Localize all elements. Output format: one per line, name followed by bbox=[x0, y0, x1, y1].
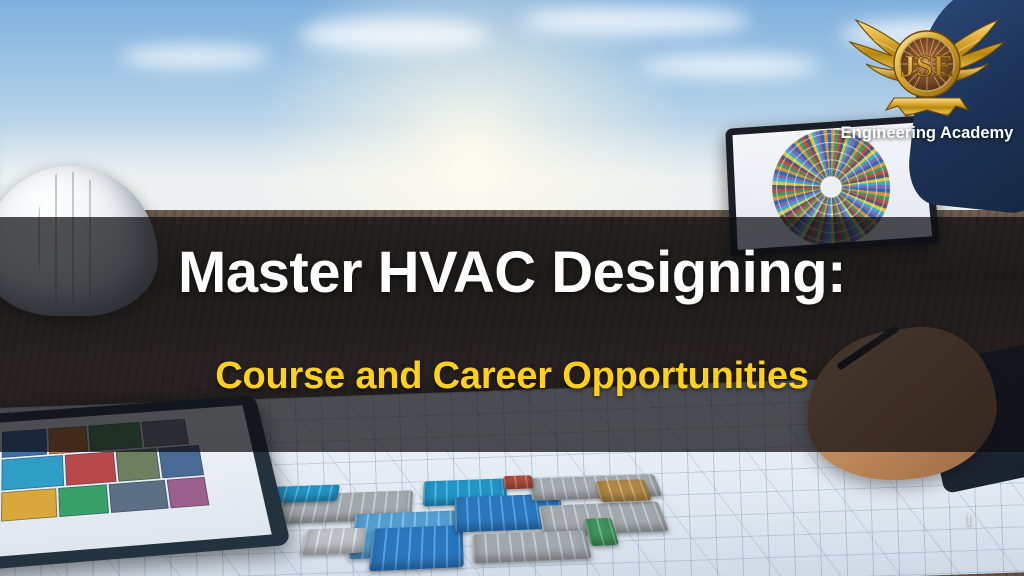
cloud-shape bbox=[640, 54, 820, 78]
duct-segment bbox=[595, 479, 651, 502]
presentation-slide: Master HVAC Designing: Course and Career… bbox=[0, 0, 1024, 576]
duct-segment bbox=[368, 525, 463, 571]
winged-shield-badge-icon: JSE bbox=[838, 6, 1016, 122]
brand-logo[interactable]: JSE Engineering Academy bbox=[838, 6, 1016, 152]
cloud-shape bbox=[520, 6, 750, 36]
logo-monogram: JSE bbox=[900, 48, 953, 83]
hvac-duct-assembly bbox=[246, 468, 715, 576]
duct-segment bbox=[301, 528, 367, 556]
ribbon-banner-icon bbox=[886, 98, 968, 116]
cloud-shape bbox=[120, 46, 270, 68]
page-title: Master HVAC Designing: bbox=[0, 243, 1024, 304]
logo-caption: Engineering Academy bbox=[838, 124, 1016, 143]
cloud-shape bbox=[300, 18, 490, 52]
page-subtitle: Course and Career Opportunities bbox=[0, 355, 1024, 398]
duct-segment bbox=[472, 530, 592, 563]
duct-segment bbox=[503, 475, 534, 489]
page-number: 1 bbox=[948, 512, 990, 530]
